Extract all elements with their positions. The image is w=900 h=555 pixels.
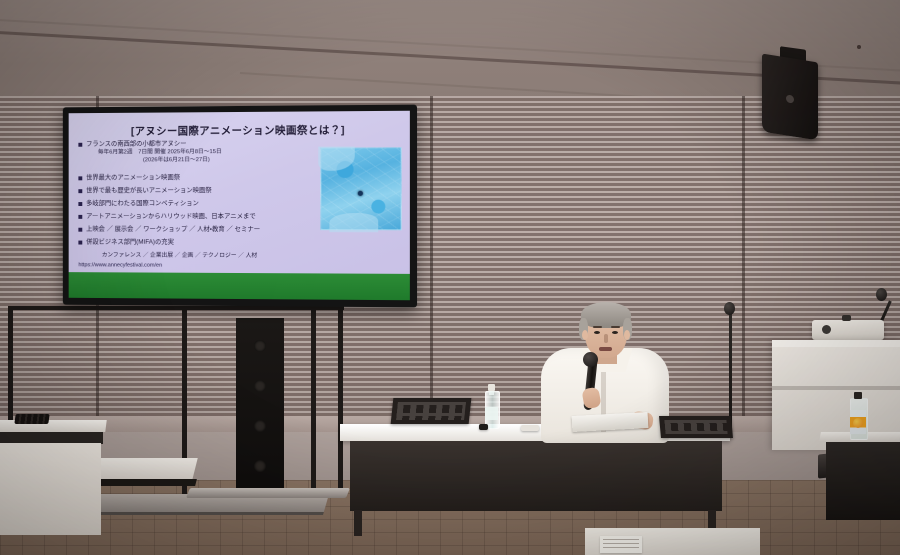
lectern-top-edge (772, 340, 900, 347)
slide-bullet: アートアニメーションからハリウッド映画、日本アニメまで (78, 213, 255, 222)
bullet-square-icon (78, 189, 82, 193)
side-table-body (826, 442, 900, 520)
blind-divider (742, 96, 745, 441)
side-table (820, 432, 900, 527)
bullet-text: 上映会 ／ 展示会 ／ ワークショップ ／ 人材・教育 ／ セミナー (86, 226, 260, 235)
bullet-text: 併設ビジネス部門(MIFA)の充実 (86, 239, 174, 248)
microphone-head-icon (724, 302, 735, 315)
slide-bullet: 世界で最も歴史が長いアニメーション映画祭 (78, 187, 211, 196)
bullet-square-icon (78, 202, 82, 206)
lectern-panel-groove (772, 386, 900, 390)
bullet-text: 多岐部門にわたる国際コンペティション (86, 200, 199, 209)
map-location-pin (358, 190, 363, 195)
speaker-driver (254, 340, 266, 352)
ceiling-fixture-dot (857, 45, 861, 49)
tray-perforations (396, 402, 466, 420)
projector-unit (812, 320, 884, 340)
projector-lens-icon (822, 325, 831, 334)
tv-stand-base (186, 488, 350, 498)
left-side-desk (0, 420, 106, 538)
nose (604, 334, 608, 343)
slide-bullet: 世界最大のアニメーション映画祭 (78, 174, 180, 183)
juice-bottle (850, 392, 866, 440)
tv-stand-post (311, 306, 316, 496)
projector-mount (842, 315, 851, 321)
blind-divider (430, 96, 433, 441)
bullet-text: アートアニメーションからハリウッド映画、日本アニメまで (86, 213, 256, 222)
slide-subline: (2026年は6月21日〜27日) (143, 156, 210, 165)
table-leg (354, 510, 362, 536)
slide-bullet: 多岐部門にわたる国際コンペティション (78, 200, 198, 209)
slide-bullet: 上映会 ／ 展示会 ／ ワークショップ ／ 人材・教育 ／ セミナー (78, 226, 260, 235)
foreground-papers (600, 536, 642, 553)
slide-title: [アヌシー国際アニメーション映画祭とは？] (69, 122, 410, 139)
speaker-driver (254, 420, 266, 432)
microphone-head-icon (876, 288, 887, 301)
speaker-driver (254, 460, 266, 472)
folded-table-rail (91, 479, 197, 486)
bottle-label (485, 407, 498, 420)
remote-control (521, 425, 539, 431)
slide-accent-bar (69, 272, 410, 300)
map-landmass (318, 147, 354, 171)
mouth (599, 347, 612, 351)
bullet-square-icon (78, 176, 82, 180)
eyebrow (611, 326, 620, 328)
europe-map-image (320, 147, 401, 230)
cable-tray-right (659, 416, 733, 438)
eye (594, 331, 600, 334)
bottle-cap (488, 384, 495, 391)
small-black-device (479, 424, 488, 430)
paper-text-lines (603, 539, 639, 540)
table-modesty-panel (350, 441, 722, 511)
desk-front-panel (0, 443, 101, 535)
microphone-stand (729, 312, 732, 430)
tray-perforations (664, 420, 727, 434)
black-equipment-block (14, 414, 49, 424)
presentation-display[interactable]: [アヌシー国際アニメーション映画祭とは？] フランスの南西部の小都市アヌシー 毎… (63, 105, 417, 308)
tv-stand-top-rail (8, 306, 344, 310)
cable-tray-left (391, 398, 472, 424)
bullet-text: 世界最大のアニメーション映画祭 (86, 174, 180, 183)
slide-url[interactable]: https://www.annecyfestival.com/en (78, 262, 162, 268)
ear (582, 330, 588, 340)
map-landmass (329, 213, 378, 232)
bullet-square-icon (78, 241, 82, 245)
microphone-capsule-icon (583, 352, 598, 367)
bottle-cap (854, 392, 862, 399)
eye (612, 331, 618, 334)
display-screen: [アヌシー国際アニメーション映画祭とは？] フランスの南西部の小都市アヌシー 毎… (69, 111, 410, 301)
eyebrow (593, 326, 602, 328)
bullet-square-icon (78, 228, 82, 232)
bullet-square-icon (78, 143, 82, 147)
presenter-table (340, 424, 730, 536)
bullet-square-icon (78, 215, 82, 219)
slide-bullet: 併設ビジネス部門(MIFA)の充実 (78, 239, 174, 248)
ceiling-speaker (762, 54, 818, 141)
speaker-cone (786, 94, 794, 103)
tower-speaker (236, 318, 284, 498)
ear (624, 330, 630, 340)
speaker-driver (254, 380, 266, 392)
slide-subline-business: カンファレンス ／ 企業出展 ／ 企画 ／ テクノロジー ／ 人材 (102, 252, 257, 261)
water-bottle (485, 384, 498, 429)
presentation-slide: [アヌシー国際アニメーション映画祭とは？] フランスの南西部の小都市アヌシー 毎… (69, 111, 410, 301)
orange-fruit-graphic (853, 418, 863, 428)
bullet-text: 世界で最も歴史が長いアニメーション映画祭 (86, 187, 212, 196)
conference-room-photo: [アヌシー国際アニメーション映画祭とは？] フランスの南西部の小都市アヌシー 毎… (0, 0, 900, 555)
